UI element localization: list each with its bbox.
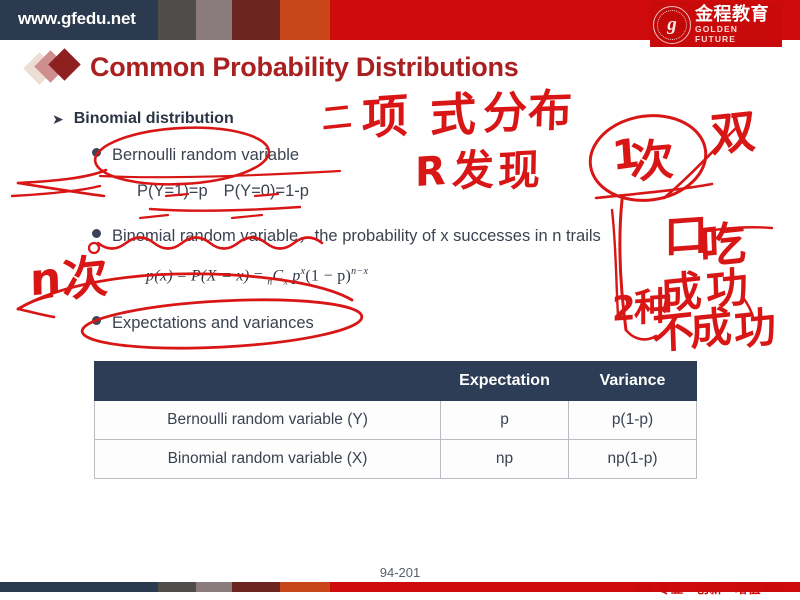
hw-kou2: 吃 bbox=[699, 220, 746, 271]
brand-name-cn: 金程教育 bbox=[695, 5, 782, 24]
hw-r: R bbox=[415, 151, 446, 193]
slide-canvas: www.gfedu.net g 金程教育 GOLDEN FUTURE Commo… bbox=[0, 0, 800, 600]
bullet-label: Bernoulli random variable bbox=[112, 146, 299, 165]
brand-logo-text: 金程教育 GOLDEN FUTURE bbox=[695, 5, 782, 44]
header-color-block bbox=[280, 0, 330, 40]
hw-bu: 不 bbox=[651, 310, 694, 356]
seal-icon: g bbox=[653, 6, 691, 44]
hw-2: 2 bbox=[612, 291, 636, 327]
table-header-expectation: Expectation bbox=[441, 362, 569, 401]
site-url[interactable]: www.gfedu.net bbox=[18, 9, 136, 29]
bullet-label: Binomial random variable，the probability… bbox=[112, 222, 601, 246]
table-cell-variance: p(1-p) bbox=[569, 401, 697, 440]
header-color-block bbox=[196, 0, 232, 40]
footer-tagline: 专业 · 创新 · 增值 bbox=[635, 578, 784, 597]
formula-equals-1: = bbox=[177, 267, 186, 284]
footer-color-block bbox=[158, 582, 196, 592]
formula-equals-2: = bbox=[254, 267, 263, 284]
table-header-variance: Variance bbox=[569, 362, 697, 401]
tagline-dash-right-icon bbox=[766, 584, 784, 591]
table-cell-variance: np(1-p) bbox=[569, 440, 697, 479]
binomial-pmf-formula: p(x) = P(X = x) = nCx px(1 − p)n−x bbox=[146, 266, 368, 288]
hw-fen: 分 bbox=[482, 91, 528, 137]
table-cell-expectation: np bbox=[441, 440, 569, 479]
bullet-item-expectations-and-variances: Expectations and variances bbox=[92, 314, 314, 333]
hw-cheng2: 成 bbox=[689, 306, 732, 352]
formula-x-subscript: x bbox=[283, 278, 288, 288]
formula-capital-p-arg: (X = x) bbox=[201, 267, 249, 284]
tagline-dash-left-icon bbox=[635, 584, 653, 591]
brand-logo[interactable]: g 金程教育 GOLDEN FUTURE bbox=[650, 2, 782, 47]
hw-cheng: 成 bbox=[659, 270, 702, 316]
hw-kou1: 口 bbox=[664, 213, 708, 260]
hw-ncí-n: n bbox=[30, 257, 62, 304]
annotation-ink-strokes bbox=[0, 0, 800, 600]
formula-tail-exponent: n−x bbox=[351, 266, 368, 277]
table-cell-expectation: p bbox=[441, 401, 569, 440]
table-row: Bernoulli random variable (Y) p p(1-p) bbox=[95, 401, 697, 440]
bullet-dot-icon bbox=[92, 148, 101, 157]
brand-name-en: GOLDEN FUTURE bbox=[695, 24, 782, 44]
slide-title-row: Common Probability Distributions bbox=[28, 48, 518, 86]
header-color-block bbox=[158, 0, 196, 40]
footer-color-block bbox=[0, 582, 158, 592]
hw-xiang: 项 bbox=[362, 92, 408, 141]
outline-level1-binomial-distribution: ➤ Binomial distribution bbox=[52, 110, 234, 128]
probability-statements: P(Y=1)=pP(Y=0)=1-p bbox=[137, 182, 309, 201]
formula-combination-c: C bbox=[272, 267, 283, 284]
formula-one-minus-p: (1 − p) bbox=[305, 267, 351, 284]
table-row: Binomial random variable (X) np np(1-p) bbox=[95, 440, 697, 479]
hw-er: 二 bbox=[322, 102, 353, 135]
bullet-item-binomial-random-variable: Binomial random variable，the probability… bbox=[92, 222, 601, 246]
seal-glyph: g bbox=[667, 15, 677, 34]
bullet-label: Expectations and variances bbox=[112, 314, 314, 333]
handwritten-annotation-layer: 二项式分布R发现1次双n次2种口吃成功不成功 bbox=[0, 0, 800, 600]
outline-level1-label: Binomial distribution bbox=[74, 110, 234, 128]
hw-shuang: 双 bbox=[709, 108, 756, 159]
probability-y-equals-0: P(Y=0)=1-p bbox=[224, 182, 309, 200]
bullet-item-bernoulli-random-variable: Bernoulli random variable bbox=[92, 146, 299, 165]
table-header-row: Expectation Variance bbox=[95, 362, 697, 401]
formula-lhs-arg: (x) bbox=[154, 267, 173, 284]
arrow-right-icon: ➤ bbox=[52, 112, 64, 126]
diamond-decoration-icon bbox=[28, 48, 90, 86]
page-title: Common Probability Distributions bbox=[90, 52, 518, 83]
footer-color-block bbox=[196, 582, 232, 592]
hw-ncí-ci: 次 bbox=[61, 253, 108, 304]
hw-gong: 功 bbox=[705, 266, 748, 312]
header-color-block bbox=[232, 0, 280, 40]
hw-zhong: 种 bbox=[634, 287, 672, 328]
expectation-variance-table: Expectation Variance Bernoulli random va… bbox=[94, 361, 697, 479]
table-cell-row-label: Binomial random variable (X) bbox=[95, 440, 441, 479]
formula-capital-p: P bbox=[191, 267, 201, 284]
table-cell-row-label: Bernoulli random variable (Y) bbox=[95, 401, 441, 440]
formula-p-base: p bbox=[292, 267, 300, 284]
bullet-dot-icon bbox=[92, 316, 101, 325]
hw-fa: 发 bbox=[452, 149, 495, 193]
table-header-blank bbox=[95, 362, 441, 401]
hw-ci: 次 bbox=[630, 138, 675, 186]
probability-y-equals-1: P(Y=1)=p bbox=[137, 182, 208, 200]
hw-bu: 布 bbox=[527, 89, 573, 135]
hw-shi: 式 bbox=[430, 91, 477, 140]
tagline-text: 专业 · 创新 · 增值 bbox=[658, 578, 761, 597]
bullet-dot-icon bbox=[92, 229, 101, 238]
hw-yi: 1 bbox=[611, 133, 641, 177]
footer-color-block bbox=[232, 582, 280, 592]
hw-gong2: 功 bbox=[733, 306, 776, 352]
footer-color-block bbox=[280, 582, 330, 592]
hw-xian: 现 bbox=[498, 149, 541, 193]
